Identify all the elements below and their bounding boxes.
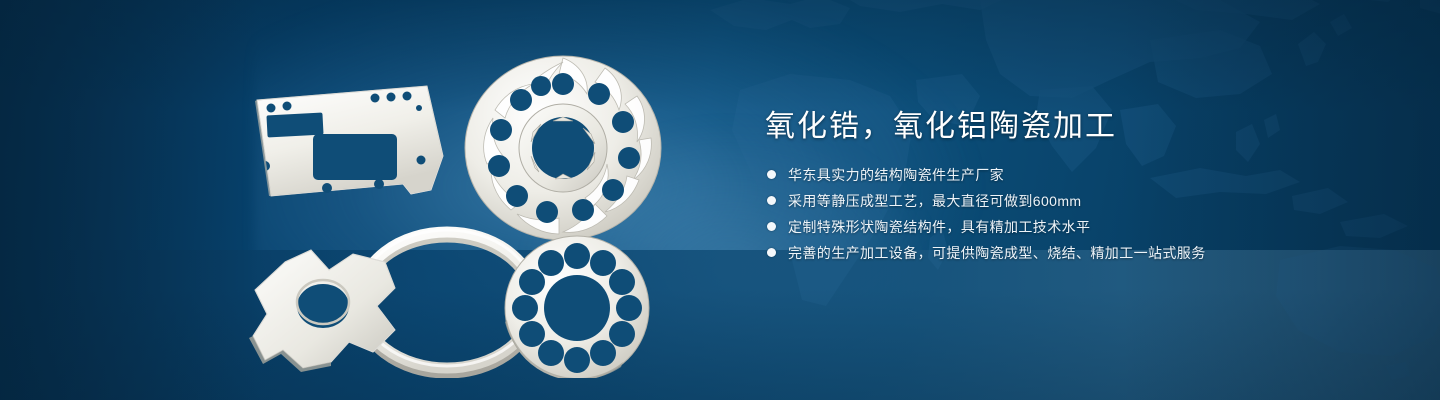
ceramic-cross-plate-image (249, 250, 395, 372)
banner-feature-list: 华东具实力的结构陶瓷件生产厂家 采用等静压成型工艺，最大直径可做到600mm 定… (767, 166, 1385, 262)
bullet-dot-icon (767, 248, 776, 257)
bullet-dot-icon (767, 196, 776, 205)
feature-item-label: 定制特殊形状陶瓷结构件，具有精加工技术水平 (788, 218, 1090, 236)
banner-headline: 氧化锆，氧化铝陶瓷加工 (765, 108, 1385, 146)
feature-item: 定制特殊形状陶瓷结构件，具有精加工技术水平 (767, 218, 1385, 236)
bullet-dot-icon (767, 170, 776, 179)
feature-item-label: 采用等静压成型工艺，最大直径可做到600mm (788, 192, 1081, 210)
feature-item-label: 完善的生产加工设备，可提供陶瓷成型、烧结、精加工一站式服务 (788, 244, 1206, 262)
ceramic-perforated-ring-image (505, 236, 649, 378)
feature-item: 采用等静压成型工艺，最大直径可做到600mm (767, 192, 1385, 210)
banner-text-block: 氧化锆，氧化铝陶瓷加工 华东具实力的结构陶瓷件生产厂家 采用等静压成型工艺，最大… (765, 108, 1385, 270)
ceramic-machined-plate-image (255, 86, 443, 196)
bullet-dot-icon (767, 222, 776, 231)
product-image-cluster (235, 38, 705, 378)
feature-item: 华东具实力的结构陶瓷件生产厂家 (767, 166, 1385, 184)
feature-item: 完善的生产加工设备，可提供陶瓷成型、烧结、精加工一站式服务 (767, 244, 1385, 262)
ceramic-impeller-disc-image (465, 56, 661, 240)
promo-banner: 氧化锆，氧化铝陶瓷加工 华东具实力的结构陶瓷件生产厂家 采用等静压成型工艺，最大… (0, 0, 1440, 400)
feature-item-label: 华东具实力的结构陶瓷件生产厂家 (788, 166, 1004, 184)
